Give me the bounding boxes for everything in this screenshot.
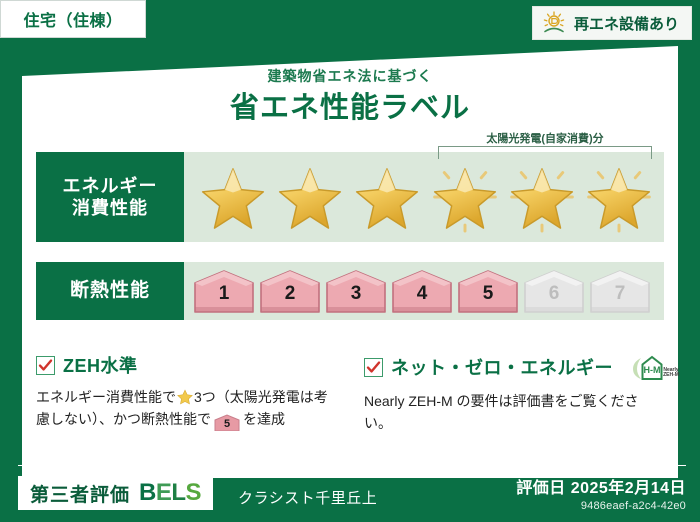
evaluation-info: 評価日 2025年2月14日 9486eaef-a2c4-42e0	[516, 474, 686, 512]
insulation-performance-body: 1234567	[184, 262, 664, 320]
grade-badge-6: 6	[522, 269, 586, 313]
grade-badge-2: 2	[258, 269, 322, 313]
star-5	[503, 158, 580, 236]
grade-scale: 1234567	[192, 262, 658, 320]
zeh-criterion-header: ZEH水準	[36, 352, 336, 378]
insulation-label-text: 断熱性能	[70, 279, 150, 303]
zeh-checkbox	[36, 356, 55, 375]
grade-badge-4: 4	[390, 269, 454, 313]
energy-label-line1: エネルギー	[63, 175, 158, 198]
net-zero-criterion-title: ネット・ゼロ・エネルギー	[391, 354, 613, 380]
net-zero-criterion-header: ネット・ゼロ・エネルギー H-M Nearly ZEH-M	[364, 352, 664, 382]
inline-grade-value: 5	[214, 414, 240, 434]
evaluation-id: 9486eaef-a2c4-42e0	[516, 500, 686, 512]
bels-energy-label: 住宅（住棟） 再エネ設備あり 建築物省エネ法に基づく	[0, 0, 700, 522]
renewable-energy-badge: 再エネ設備あり	[532, 6, 692, 40]
page-title: 省エネ性能ラベル	[0, 84, 700, 126]
grade-badge-value: 3	[351, 277, 362, 305]
footer: 第三者評価 BELS クラシスト千里丘上 評価日 2025年2月14日 9486…	[0, 466, 700, 522]
net-zero-checkbox	[364, 358, 383, 377]
zeh-criterion-body: エネルギー消費性能で 3つ（太陽光発電は考慮しない）、かつ断熱性能で 5 を達成	[36, 387, 336, 431]
bels-logo: 第三者評価 BELS	[18, 476, 213, 510]
zeh-criterion-title: ZEH水準	[63, 352, 138, 378]
label-subtitle: 建築物省エネ法に基づく	[0, 66, 700, 86]
building-name: クラシスト千里丘上	[238, 487, 377, 508]
net-zero-criterion: ネット・ゼロ・エネルギー H-M Nearly ZEH-M Nearly ZEH…	[350, 352, 664, 452]
zeh-body-part3: を達成	[243, 411, 285, 427]
hm-logo-center-text: H-M	[644, 365, 661, 375]
solar-note-text: 太陽光発電(自家消費)分	[434, 130, 656, 146]
evaluation-date: 評価日 2025年2月14日	[516, 474, 686, 498]
zeh-criterion: ZEH水準 エネルギー消費性能で 3つ（太陽光発電は考慮しない）、かつ断熱性能で…	[36, 352, 350, 452]
grade-badge-value: 5	[483, 277, 494, 305]
grade-badge-value: 7	[615, 277, 626, 305]
bels-jp-text: 第三者評価	[30, 480, 130, 507]
sun-icon	[541, 10, 567, 36]
footer-divider	[18, 465, 686, 466]
building-type-text: 住宅（住棟）	[23, 7, 122, 31]
star-rating	[194, 152, 658, 242]
energy-performance-row: エネルギー 消費性能 太陽光発電(自家消費)分	[36, 152, 664, 242]
criteria-sections: ZEH水準 エネルギー消費性能で 3つ（太陽光発電は考慮しない）、かつ断熱性能で…	[36, 352, 664, 452]
grade-badge-1: 1	[192, 269, 256, 313]
building-type-badge: 住宅（住棟）	[0, 0, 146, 38]
hm-logo-sub2: ZEH-M	[663, 372, 679, 378]
star-2	[271, 158, 348, 236]
star-4	[426, 158, 503, 236]
zeh-body-part1: エネルギー消費性能で	[36, 389, 176, 405]
nearly-zeh-m-logo-icon: H-M Nearly ZEH-M	[627, 352, 683, 382]
star-3	[349, 158, 426, 236]
star-1	[194, 158, 271, 236]
insulation-performance-row: 断熱性能 1234567	[36, 262, 664, 320]
renewable-badge-label: 再エネ設備あり	[574, 13, 679, 34]
energy-performance-body: 太陽光発電(自家消費)分	[184, 152, 664, 242]
grade-badge-value: 2	[285, 277, 296, 305]
energy-label-line2: 消費性能	[72, 197, 148, 220]
grade-badge-value: 1	[219, 277, 230, 305]
grade-badge-3: 3	[324, 269, 388, 313]
star-icon	[177, 389, 193, 405]
inline-grade-badge: 5	[214, 414, 240, 431]
insulation-performance-label: 断熱性能	[36, 262, 184, 320]
grade-badge-7: 7	[588, 269, 652, 313]
net-zero-criterion-body: Nearly ZEH-M の要件は評価書をご覧ください。	[364, 391, 664, 434]
grade-badge-5: 5	[456, 269, 520, 313]
bels-en-text: BELS	[139, 479, 201, 507]
grade-badge-value: 6	[549, 277, 560, 305]
energy-performance-label: エネルギー 消費性能	[36, 152, 184, 242]
grade-badge-value: 4	[417, 277, 428, 305]
star-6	[581, 158, 658, 236]
